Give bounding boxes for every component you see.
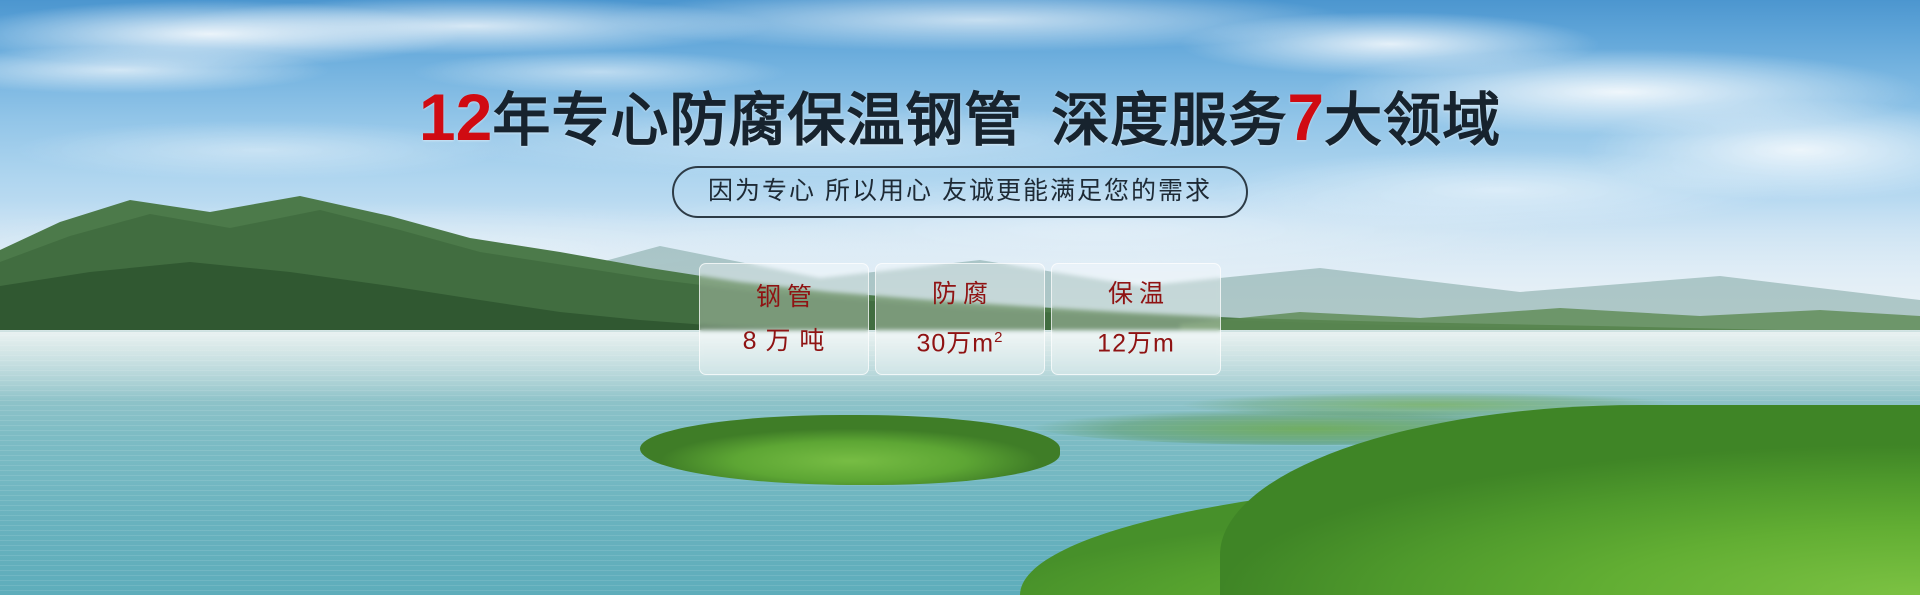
stat-label-steel-pipe: 钢管 bbox=[750, 282, 818, 312]
stat-card-anticorrosion: 防腐 30万m2 bbox=[875, 263, 1045, 375]
stat-value-text-2: 12万m bbox=[1097, 330, 1175, 358]
subtitle-container: 因为专心 所以用心 友诚更能满足您的需求 bbox=[0, 166, 1920, 218]
subtitle-pill: 因为专心 所以用心 友诚更能满足您的需求 bbox=[672, 166, 1248, 218]
stat-value-steel-pipe: 8 万 吨 bbox=[743, 326, 826, 356]
stat-value-anticorrosion: 30万m2 bbox=[917, 323, 1004, 358]
promo-banner: 12年专心防腐保温钢管深度服务7大领域 因为专心 所以用心 友诚更能满足您的需求… bbox=[0, 0, 1920, 595]
headline-secondary-suffix: 大领域 bbox=[1324, 88, 1501, 153]
stat-card-insulation: 保温 12万m bbox=[1051, 263, 1221, 375]
stat-value-text-0: 8 万 吨 bbox=[743, 327, 826, 355]
headline-secondary-text: 深度服务 bbox=[1051, 88, 1287, 153]
headline-primary-text: 年专心防腐保温钢管 bbox=[492, 88, 1023, 153]
stats-card-group: 钢管 8 万 吨 防腐 30万m2 保温 12万m bbox=[0, 263, 1920, 375]
stat-label-anticorrosion: 防腐 bbox=[926, 279, 994, 309]
stat-label-insulation: 保温 bbox=[1102, 279, 1170, 309]
stat-card-steel-pipe: 钢管 8 万 吨 bbox=[699, 263, 869, 375]
headline-years-number: 12 bbox=[419, 80, 492, 154]
stat-value-superscript-1: 2 bbox=[994, 329, 1003, 346]
banner-headline: 12年专心防腐保温钢管深度服务7大领域 bbox=[0, 86, 1920, 152]
stat-value-insulation: 12万m bbox=[1097, 323, 1175, 358]
headline-fields-number: 7 bbox=[1287, 80, 1324, 154]
stat-value-text-1: 30万m bbox=[917, 330, 995, 358]
